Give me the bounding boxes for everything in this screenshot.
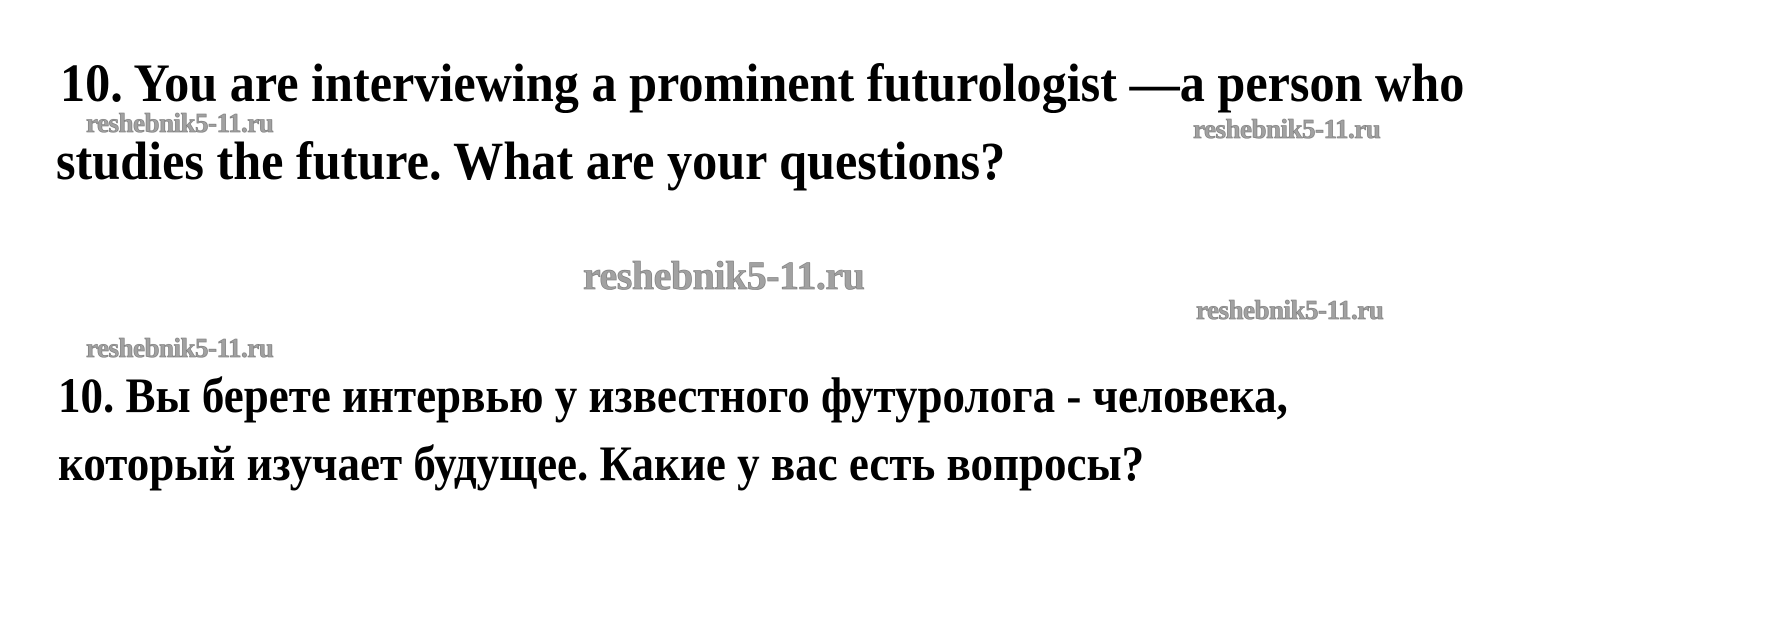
watermark: reshebnik5-11.ru	[583, 252, 864, 299]
english-text-line-1: 10. You are interviewing a prominent fut…	[60, 52, 1464, 114]
watermark: reshebnik5-11.ru	[1196, 295, 1383, 326]
russian-text-line-2: который изучает будущее. Какие у вас ест…	[58, 434, 1144, 492]
document-page: 10. You are interviewing a prominent fut…	[0, 0, 1787, 638]
watermark: reshebnik5-11.ru	[1193, 114, 1380, 145]
english-text-line-2: studies the future. What are your questi…	[56, 130, 1005, 192]
russian-text-line-1: 10. Вы берете интервью у известного футу…	[58, 366, 1288, 424]
watermark: reshebnik5-11.ru	[86, 333, 273, 364]
